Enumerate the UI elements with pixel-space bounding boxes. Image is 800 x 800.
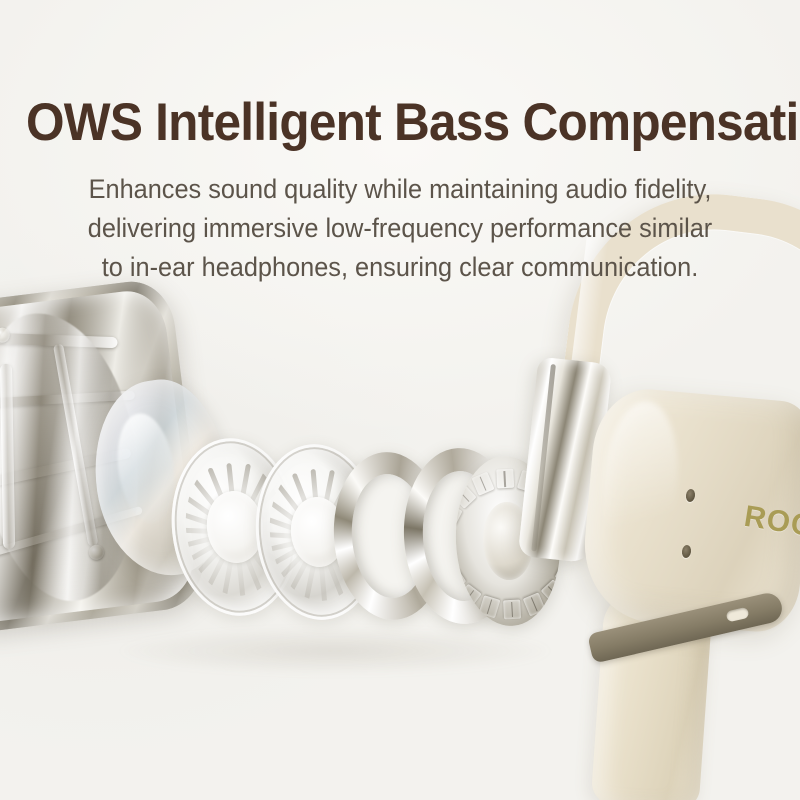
housing-screw [89,544,106,561]
housing-strut [0,364,15,549]
bearing-roller [503,600,521,620]
page-title: OWS Intelligent Bass Compensation [26,0,774,149]
bearing-roller [522,593,545,617]
bearing-roller [496,469,514,489]
subtitle-line-3: to in-ear headphones, ensuring clear com… [18,248,782,287]
product-poster: ROC OWS Intelligent Bass Compensation En… [0,0,800,800]
bearing-roller [540,580,564,605]
bearing-roller [471,472,494,496]
housing-screw [0,326,11,343]
page-subtitle: Enhances sound quality while maintaining… [18,149,782,287]
subtitle-line-2: delivering immersive low-frequency perfo… [18,209,782,248]
subtitle-line-1: Enhances sound quality while maintaining… [18,170,782,209]
housing-strut [0,331,117,348]
product-contact-shadow [120,628,550,674]
marketing-copy: OWS Intelligent Bass Compensation Enhanc… [0,0,800,287]
housing-strut [53,343,98,546]
